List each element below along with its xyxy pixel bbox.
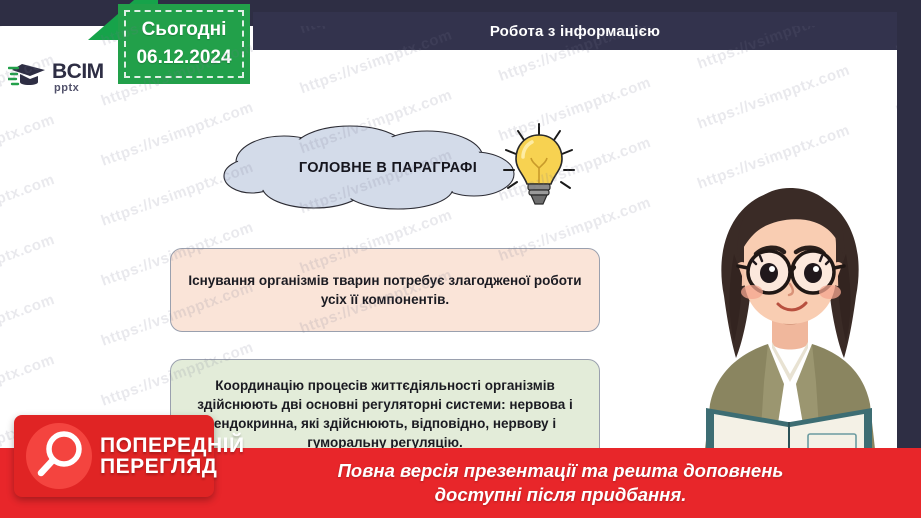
watermark-text: https://vsimpptx.com <box>0 231 57 302</box>
date-badge-label: Сьогодні <box>142 16 227 44</box>
cloud-callout: ГОЛОВНЕ В ПАРАГРАФІ <box>222 122 522 214</box>
watermark-text: https://vsimpptx.com <box>0 351 57 422</box>
date-badge-value: 06.12.2024 <box>136 44 231 72</box>
magnifier-icon <box>24 421 94 491</box>
content-box-1-text: Існування організмів тварин потребує зла… <box>187 271 583 309</box>
cloud-label: ГОЛОВНЕ В ПАРАГРАФІ <box>222 122 522 214</box>
slide-header-bar: Робота з інформацією <box>253 12 897 50</box>
page-title: Робота з інформацією <box>490 23 660 40</box>
today-date-badge: Сьогодні 06.12.2024 <box>118 4 250 84</box>
purchase-banner-line-1: Повна версія презентації та решта доповн… <box>338 459 784 483</box>
watermark-text: https://vsimpptx.com <box>0 111 57 182</box>
woman-reading-book-illustration <box>672 176 897 488</box>
purchase-banner-line-2: доступні після придбання. <box>338 483 784 507</box>
watermark-text: https://vsimpptx.com <box>695 62 852 133</box>
watermark-text: https://vsimpptx.com <box>0 291 57 362</box>
logo-subtext: pptx <box>54 83 104 94</box>
content-box-2-text: Координацію процесів життєдіяльності орг… <box>187 376 583 453</box>
preview-badge-line-2: ПЕРЕГЛЯД <box>100 456 245 477</box>
content-box-1: Існування організмів тварин потребує зла… <box>170 248 600 332</box>
graduation-cap-icon <box>8 60 48 94</box>
preview-badge[interactable]: ПОПЕРЕДНІЙ ПЕРЕГЛЯД <box>14 415 214 497</box>
watermark-text: https://vsimpptx.com <box>0 171 57 242</box>
slide-root: BCIM pptx <box>0 0 921 518</box>
brand-logo: BCIM pptx <box>8 54 118 100</box>
preview-badge-line-1: ПОПЕРЕДНІЙ <box>100 435 245 456</box>
lightbulb-icon <box>498 122 580 212</box>
logo-wordmark: BCIM <box>52 61 104 82</box>
watermark-text: https://vsimpptx.com <box>894 49 897 120</box>
